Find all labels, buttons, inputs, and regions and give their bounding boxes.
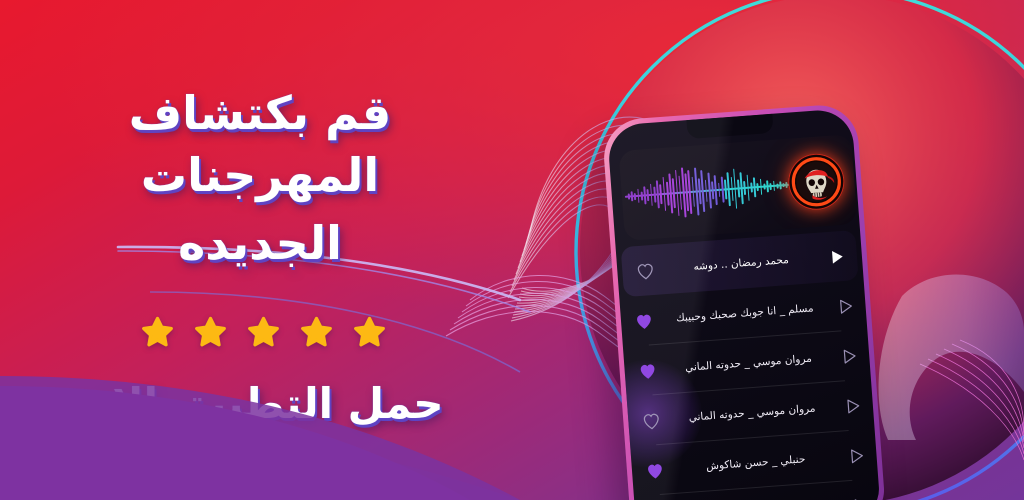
album-art (786, 152, 846, 212)
play-outline-icon[interactable] (835, 296, 855, 316)
heart-outline-icon[interactable] (641, 411, 662, 430)
rating-stars (141, 316, 386, 349)
star-icon (247, 316, 280, 349)
app-promo-banner: قم بكتشاف المهرجنات الجديده حمل التطبيق … (0, 0, 1024, 500)
waveform-bar (714, 175, 718, 205)
waveform-bar (773, 181, 775, 191)
track-title: مروان موسي _ حدوته الماني (661, 400, 843, 425)
waveform-bar (637, 189, 640, 203)
google-play-triangle-icon (200, 465, 219, 489)
phone-frame: محمد رمضان .. دوشهمسلم _ انا جوبك صحبك و… (601, 103, 886, 500)
track-title: محمد رمضان .. دوشه (655, 251, 827, 276)
star-icon (300, 316, 333, 349)
phone-screen: محمد رمضان .. دوشهمسلم _ انا جوبك صحبك و… (607, 108, 881, 500)
waveform-bar (757, 183, 759, 191)
waveform-bar (634, 193, 636, 200)
waveform-bar (760, 179, 763, 195)
play-outline-icon[interactable] (846, 445, 866, 465)
phone-notch (686, 114, 773, 139)
heart-filled-icon[interactable] (633, 311, 654, 330)
headline-line-1: قم بكتشاف المهرجنات (129, 86, 392, 202)
track-title: مسلم _ انا جوبك صحبك وحبيبك (654, 301, 836, 326)
waveform-bar (783, 183, 785, 187)
heart-outline-icon[interactable] (635, 261, 656, 280)
phone-mockup: محمد رمضان .. دوشهمسلم _ انا جوبك صحبك و… (601, 103, 886, 500)
waveform-bar (628, 193, 630, 199)
waveform-bar (770, 183, 772, 190)
track-title: حنبلي _ حسن شاكوش (665, 450, 847, 475)
promo-copy: قم بكتشاف المهرجنات الجديده حمل التطبيق … (0, 0, 520, 500)
play-outline-icon[interactable] (842, 396, 862, 416)
headline-line-2: الجديده (25, 212, 495, 274)
waveform-bar (746, 175, 750, 201)
skull-bandana-icon (786, 152, 846, 212)
star-icon (194, 316, 227, 349)
waveform-bar (647, 189, 650, 201)
waveform-bar (718, 183, 721, 197)
waveform-bar (776, 183, 778, 188)
play-outline-icon[interactable] (839, 346, 859, 366)
call-to-action-text: حمل التطبيق الان (76, 379, 443, 428)
waveform-bar (766, 180, 769, 192)
audio-waveform (626, 157, 790, 225)
heart-filled-icon[interactable] (637, 361, 658, 380)
waveform-bar (659, 184, 662, 204)
now-playing-card (619, 134, 858, 241)
waveform-bar (744, 181, 747, 195)
waveform-bar (701, 170, 706, 212)
waveform-bar (640, 191, 642, 200)
badge-bottom-label: Google Play (228, 464, 320, 500)
google-play-badge[interactable]: GET IT ON Google Play (186, 454, 334, 500)
play-outline-icon[interactable] (849, 495, 869, 500)
track-list: محمد رمضان .. دوشهمسلم _ انا جوبك صحبك و… (616, 230, 881, 500)
waveform-bar (750, 182, 752, 192)
track-title: مروان موسي _ حدوته الماني (657, 351, 839, 376)
waveform-bar (779, 181, 781, 189)
star-icon (141, 316, 174, 349)
waveform-bar (631, 191, 633, 201)
star-icon (353, 316, 386, 349)
waveform-bar (753, 177, 756, 197)
play-filled-icon[interactable] (826, 246, 846, 266)
heart-filled-icon[interactable] (644, 461, 665, 480)
badge-top-label: GET IT ON (228, 452, 320, 462)
page-title: قم بكتشاف المهرجنات الجديده (25, 82, 495, 274)
waveform-bar (763, 184, 765, 190)
